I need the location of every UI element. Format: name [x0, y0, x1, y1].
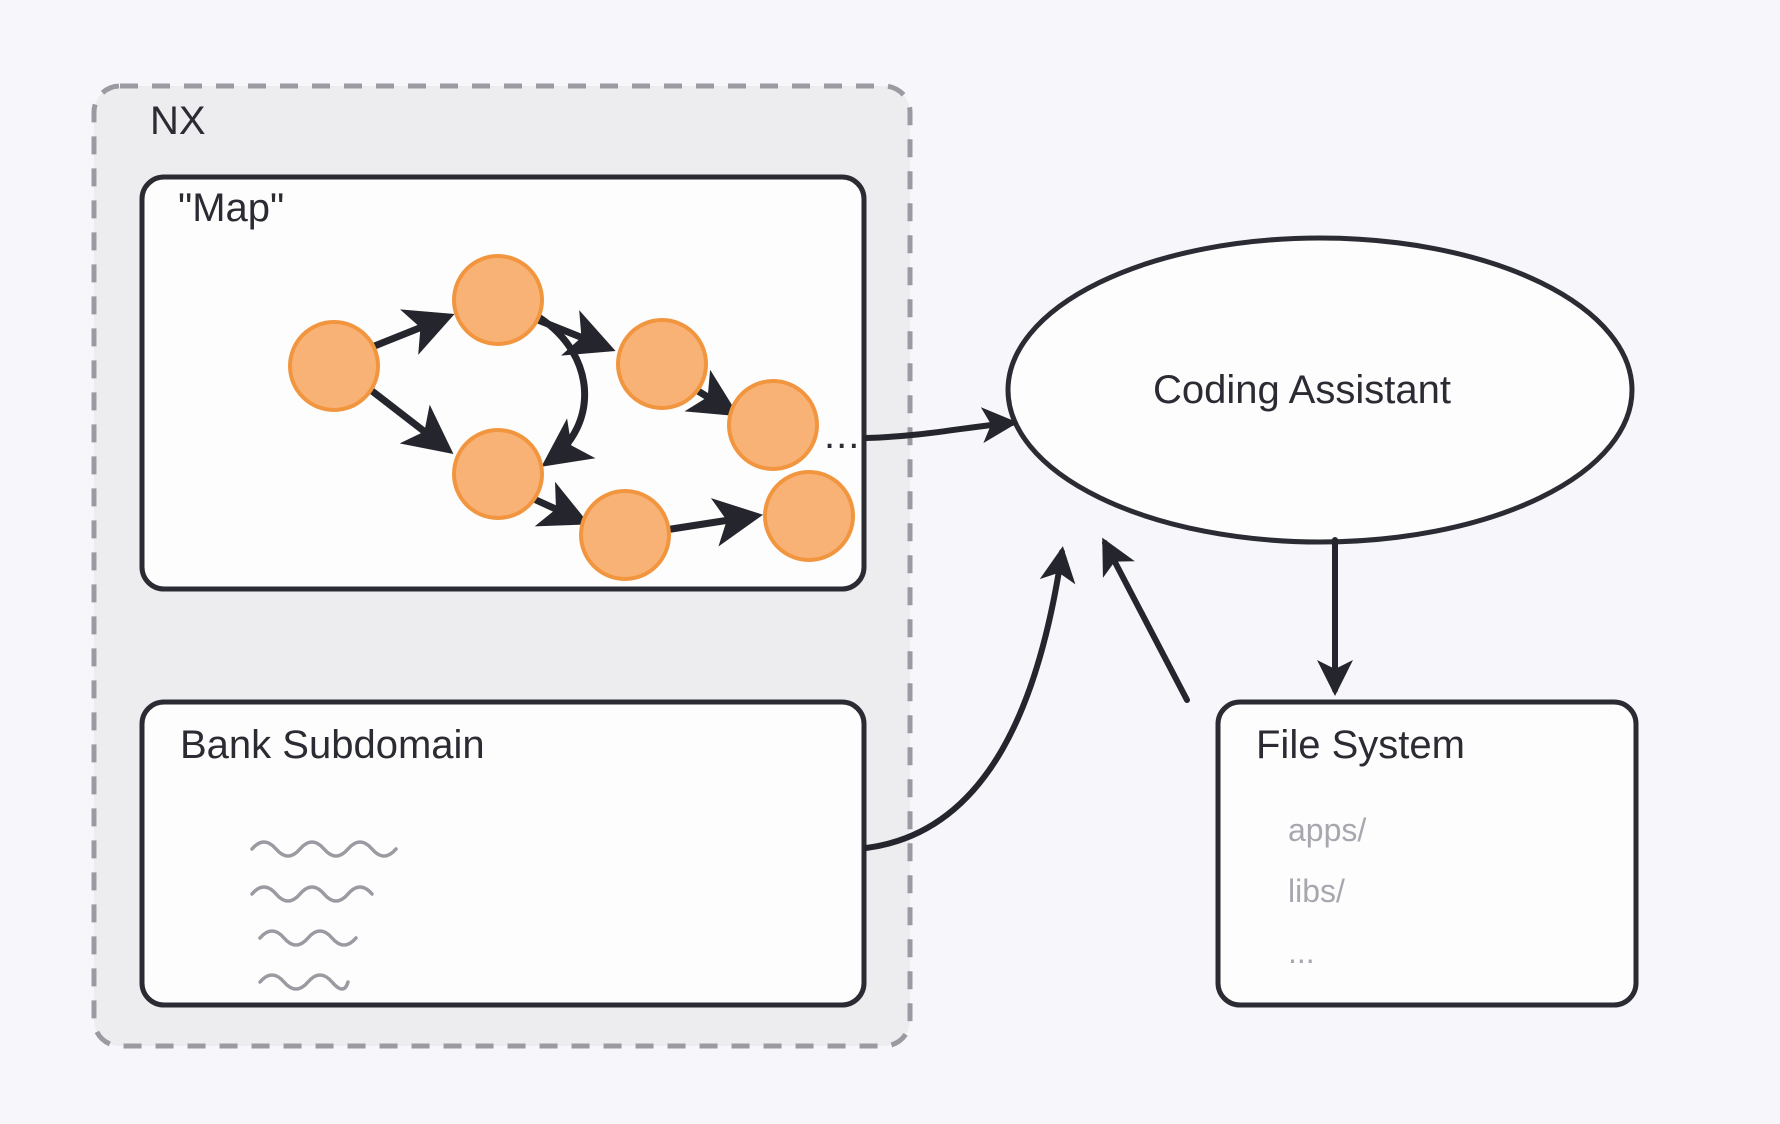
coding-assistant-node: [1008, 238, 1632, 542]
graph-node: [454, 256, 542, 344]
arrow-external-to-assistant: [1105, 543, 1187, 700]
diagram-vector-layer: [0, 0, 1780, 1124]
graph-node: [581, 491, 669, 579]
file-system-item: ...: [1288, 934, 1315, 971]
graph-node: [290, 322, 378, 410]
graph-node: [765, 472, 853, 560]
graph-node: [618, 320, 706, 408]
graph-node: [729, 381, 817, 469]
bank-subdomain-card: [142, 702, 864, 1005]
diagram-canvas: NX "Map" ... Bank Subdomain Coding Assis…: [0, 0, 1780, 1124]
map-graph-ellipsis: ...: [824, 413, 860, 458]
file-system-item: apps/: [1288, 812, 1366, 849]
file-system-item: libs/: [1288, 873, 1345, 910]
file-system-card: [1218, 702, 1636, 1005]
graph-node: [454, 430, 542, 518]
